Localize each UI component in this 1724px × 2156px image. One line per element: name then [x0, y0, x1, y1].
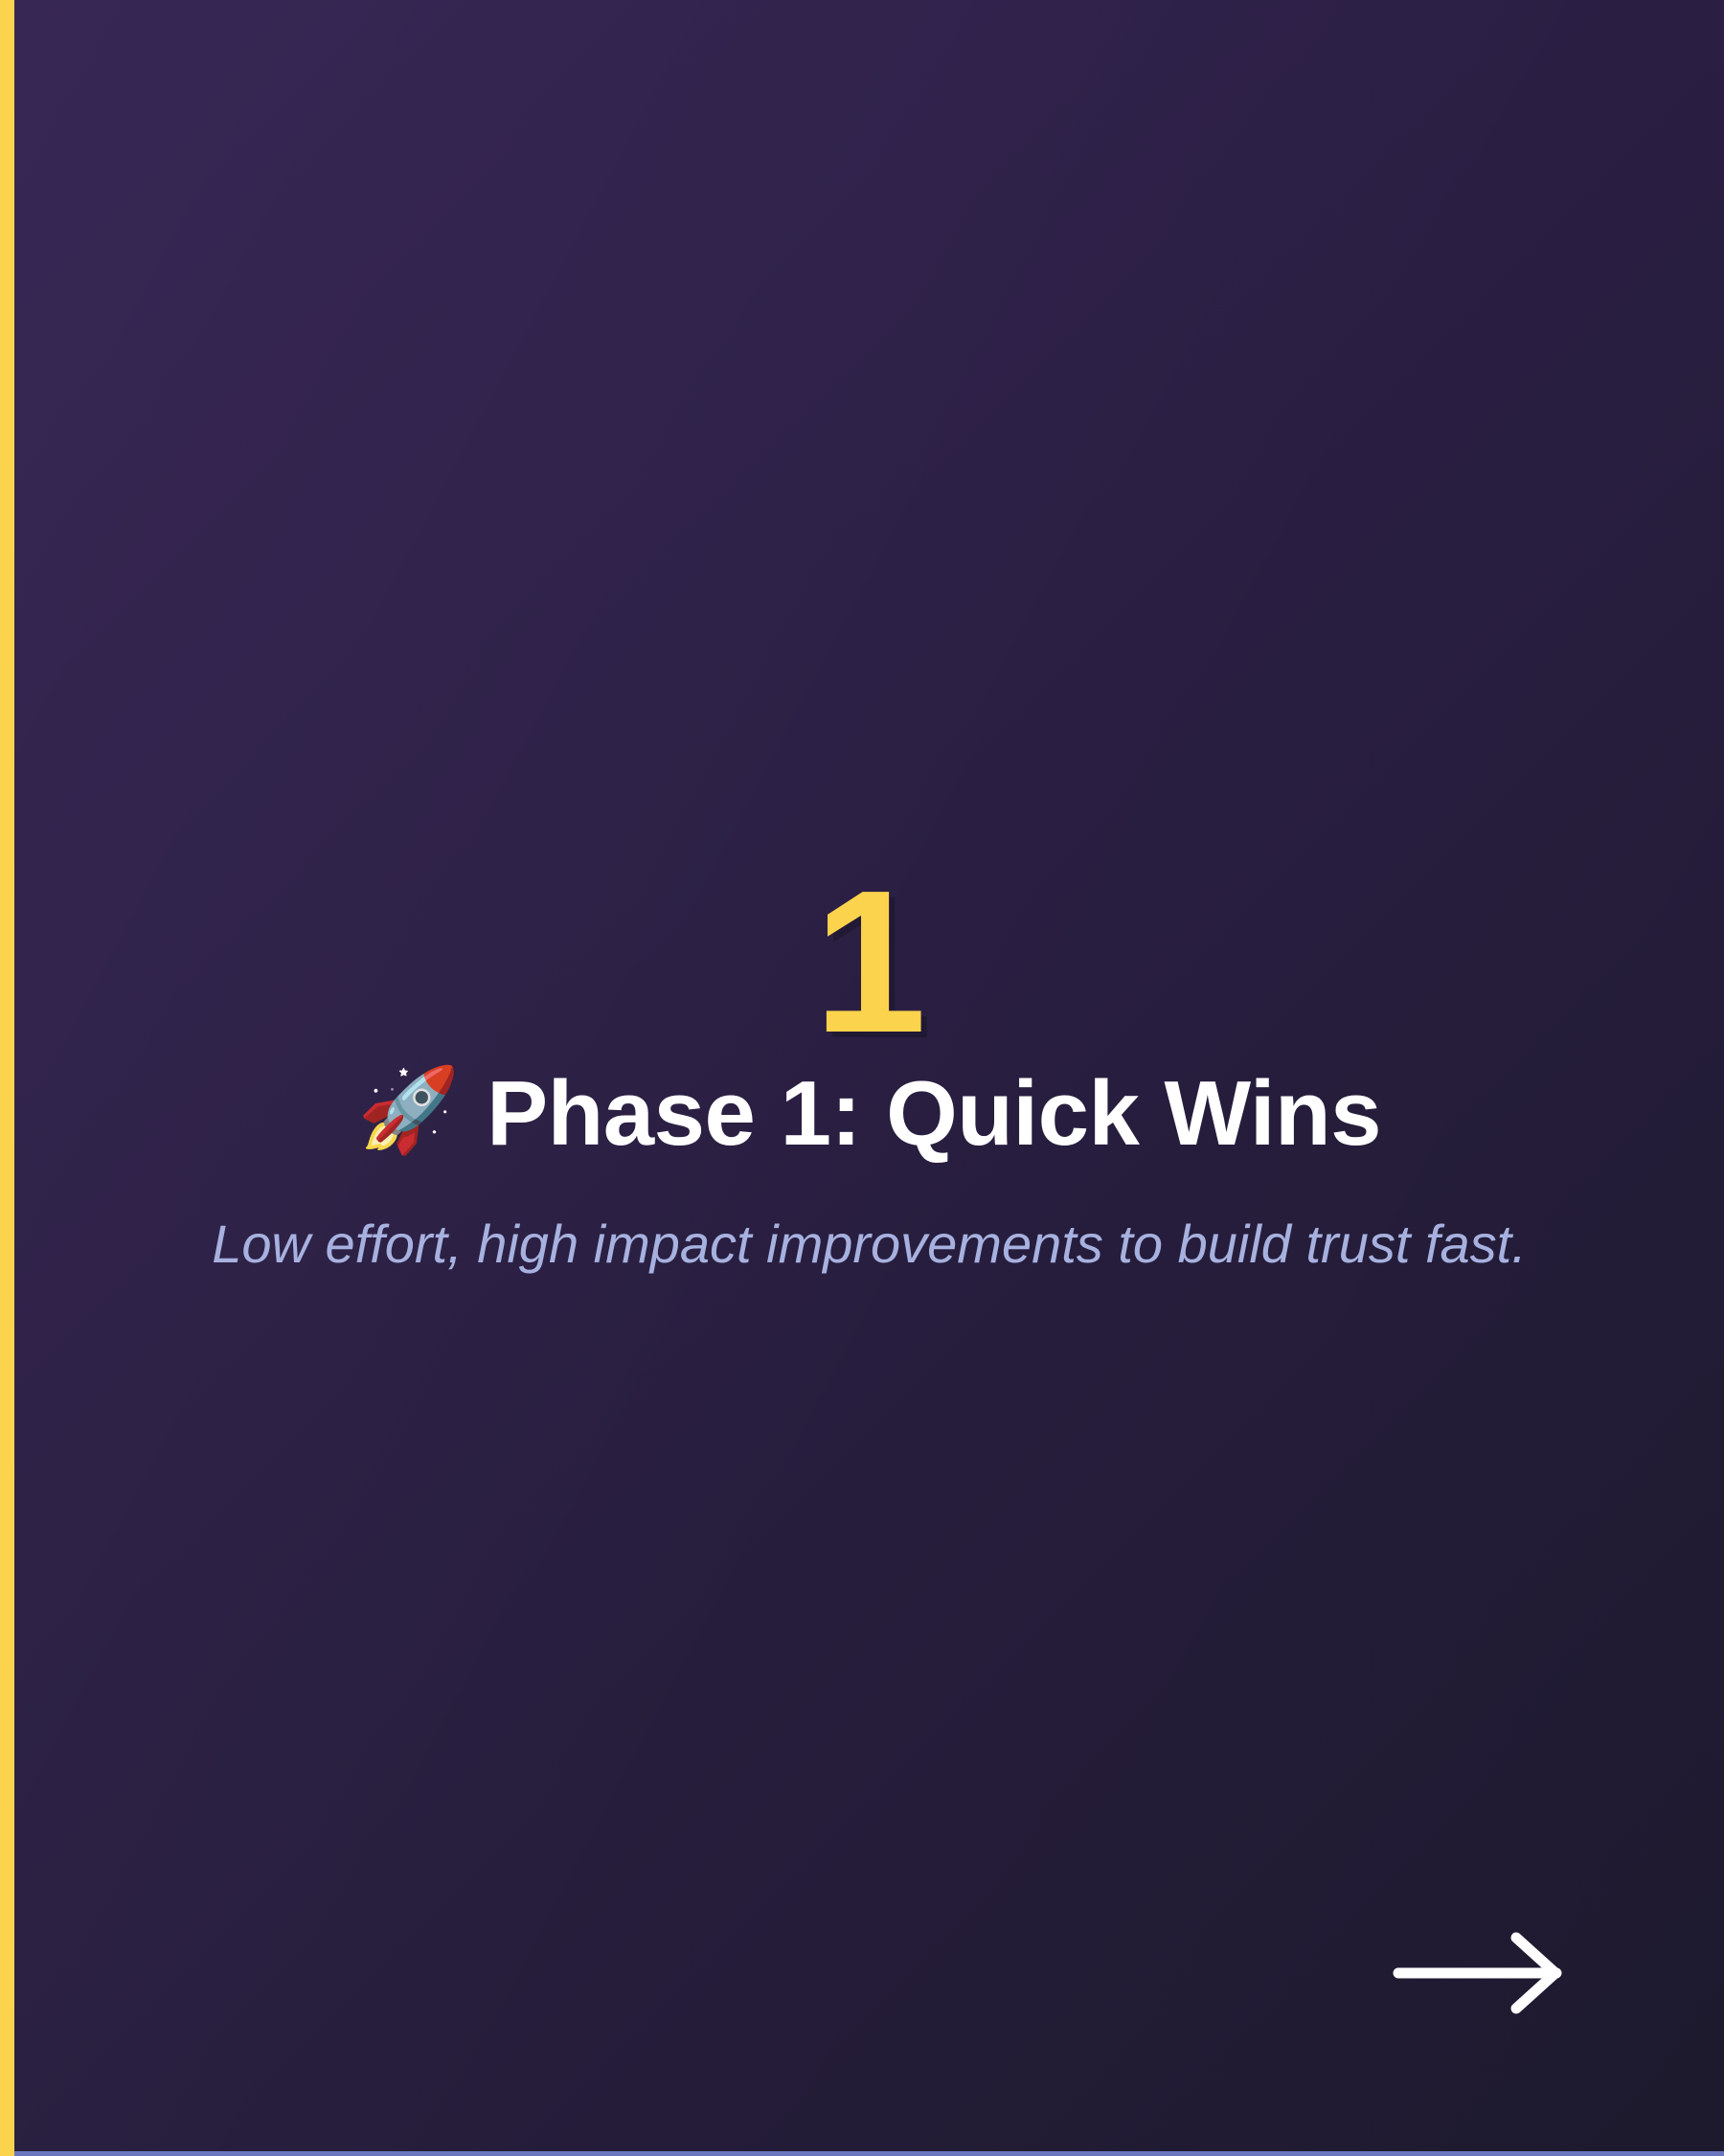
page-title-text: Phase 1: Quick Wins	[487, 1064, 1381, 1164]
rocket-emoji: 🚀	[357, 1069, 460, 1151]
page-title: 🚀 Phase 1: Quick Wins	[319, 1064, 1419, 1164]
arrow-right-icon	[1392, 1929, 1566, 2017]
slide-subtitle: Low effort, high impact improvements to …	[154, 1210, 1584, 1280]
step-number: 1	[814, 876, 925, 1047]
left-accent-bar	[0, 0, 14, 2156]
slide-root: 1 🚀 Phase 1: Quick Wins Low effort, high…	[0, 0, 1724, 2156]
next-slide-button[interactable]	[1392, 1929, 1566, 2017]
bottom-accent-bar	[14, 2151, 1724, 2156]
slide-content: 1 🚀 Phase 1: Quick Wins Low effort, high…	[14, 0, 1724, 2156]
